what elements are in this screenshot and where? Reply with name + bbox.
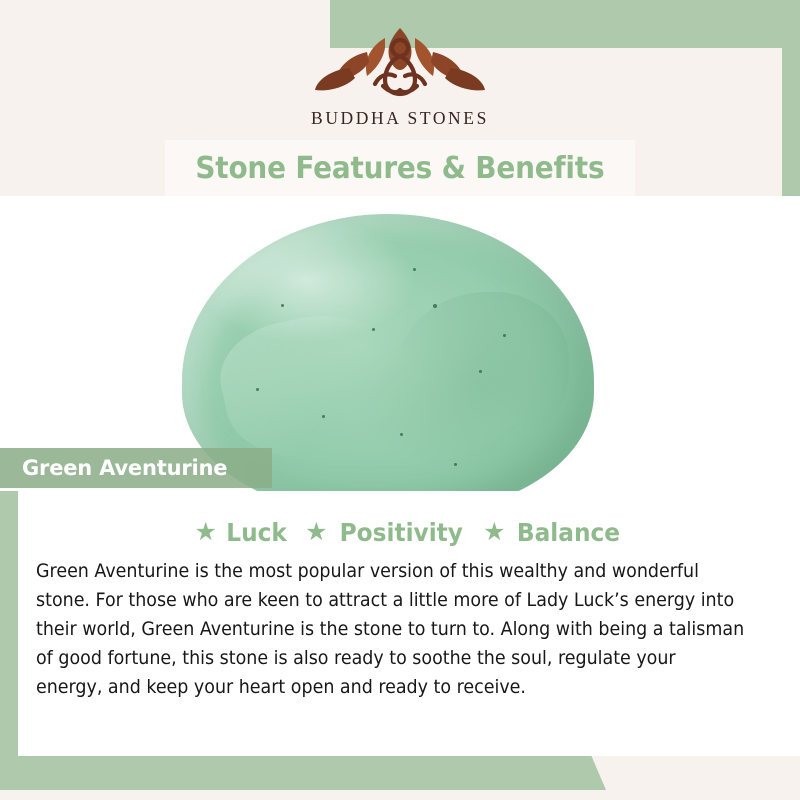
stone-facet-highlight — [211, 298, 425, 472]
star-icon: ★ — [483, 520, 505, 545]
content-panel: ★ Luck ★ Positivity ★ Balance Green Aven… — [18, 491, 800, 756]
feature-label: Balance — [516, 518, 619, 547]
brand-header: BUDDHA STONES — [0, 0, 800, 148]
feature-label: Luck — [226, 518, 287, 547]
feature-item-balance: ★ Balance — [483, 518, 623, 547]
feature-label: Positivity — [339, 518, 462, 547]
feature-item-luck: ★ Luck — [195, 518, 290, 547]
stone-facet-shadow — [396, 292, 569, 448]
title-banner: Stone Features & Benefits — [165, 140, 635, 196]
star-icon: ★ — [305, 520, 327, 545]
brand-name: BUDDHA STONES — [311, 108, 489, 129]
infographic-card: BUDDHA STONES Stone Features & Benefits … — [0, 0, 800, 800]
description-paragraph: Green Aventurine is the most popular ver… — [36, 558, 747, 703]
feature-list: ★ Luck ★ Positivity ★ Balance — [18, 518, 800, 547]
feature-item-positivity: ★ Positivity — [305, 518, 467, 547]
lotus-meditation-figure-icon — [305, 22, 495, 104]
stone-label-band: Green Aventurine — [0, 448, 272, 488]
star-icon: ★ — [195, 520, 217, 545]
bottom-cream-strip — [0, 790, 800, 800]
page-title: Stone Features & Benefits — [196, 151, 605, 186]
stone-photo — [0, 196, 800, 491]
stone-name-label: Green Aventurine — [22, 456, 227, 480]
